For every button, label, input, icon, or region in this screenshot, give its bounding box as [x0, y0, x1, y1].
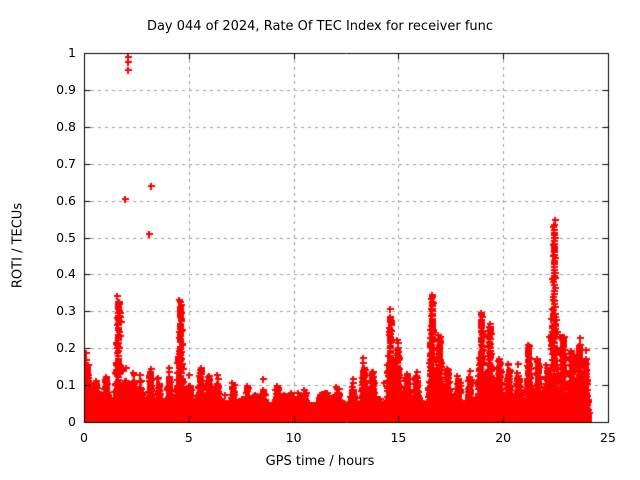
roti-scatter-figure: Day 044 of 2024, Rate Of TEC Index for r… [0, 0, 640, 480]
plot-canvas [0, 0, 640, 480]
